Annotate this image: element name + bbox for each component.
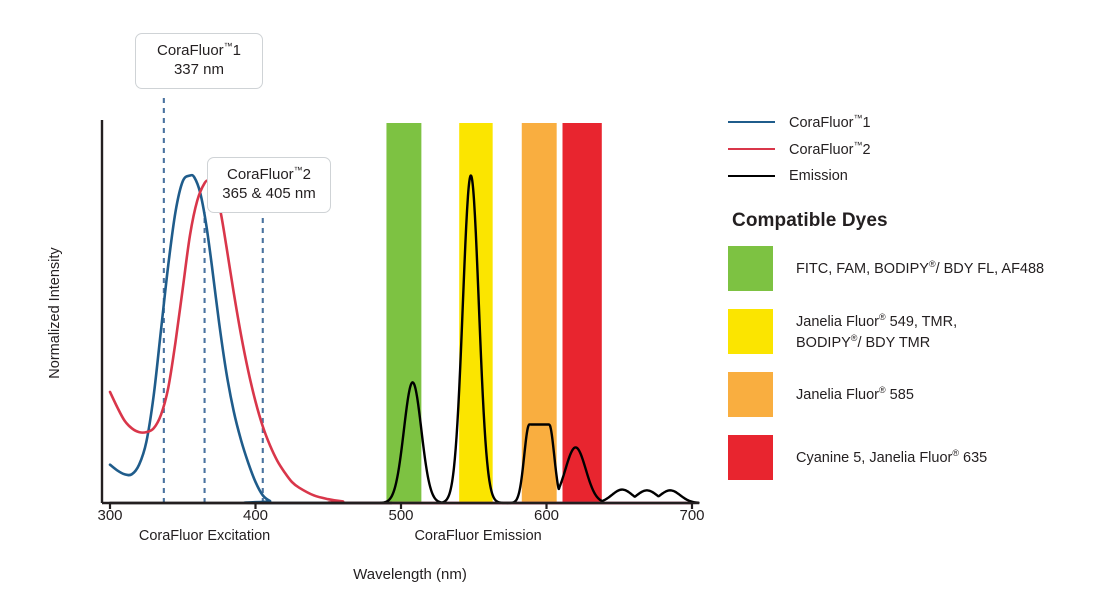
legend-label-suffix: 2 xyxy=(862,141,870,157)
dye-row[interactable]: Cyanine 5, Janelia Fluor® 635 xyxy=(728,435,1100,480)
dye-text-tail: / BDY TMR xyxy=(857,334,930,350)
x-tick-300: 300 xyxy=(80,507,140,524)
dye-color-swatch xyxy=(728,372,773,417)
yellow-band xyxy=(459,123,492,503)
x-tick-400: 400 xyxy=(226,507,286,524)
legend-item[interactable]: CoraFluor™2 xyxy=(728,135,1100,162)
section-label-excitation: CoraFluor Excitation xyxy=(95,528,315,544)
x-tick-500: 500 xyxy=(371,507,431,524)
compatible-dyes-list: FITC, FAM, BODIPY®/ BDY FL, AF488Janelia… xyxy=(728,246,1100,480)
dye-label-line-1: Janelia Fluor® 585 xyxy=(796,384,914,405)
callout-2-value: 365 & 405 nm xyxy=(220,185,318,204)
green-band xyxy=(386,123,421,503)
callout-2-title: CoraFluor™2 xyxy=(220,165,318,185)
legend-panel: CoraFluor™1CoraFluor™2Emission Compatibl… xyxy=(728,108,1100,498)
dye-text: BODIPY xyxy=(796,334,851,350)
dye-text: Cyanine 5, Janelia Fluor xyxy=(796,450,952,466)
dye-text-tail: 549, TMR, xyxy=(886,314,957,330)
legend-line-swatch xyxy=(728,121,775,123)
dye-row[interactable]: Janelia Fluor® 549, TMR,BODIPY®/ BDY TMR xyxy=(728,309,1100,354)
legend-item-label: CoraFluor™1 xyxy=(789,113,871,131)
dye-label-line-2: BODIPY®/ BDY TMR xyxy=(796,332,957,353)
dye-text-tail: 585 xyxy=(886,387,914,403)
dye-label: Cyanine 5, Janelia Fluor® 635 xyxy=(796,447,987,468)
legend-item-label: CoraFluor™2 xyxy=(789,140,871,158)
legend-label-text: CoraFluor xyxy=(789,114,853,130)
chart-figure: CoraFluor™1 337 nm CoraFluor™2 365 & 405… xyxy=(0,0,1110,612)
dye-label-line-1: FITC, FAM, BODIPY®/ BDY FL, AF488 xyxy=(796,258,1044,279)
callout-1-title: CoraFluor™1 xyxy=(148,41,250,61)
x-tick-600: 600 xyxy=(517,507,577,524)
dye-color-swatch xyxy=(728,435,773,480)
dye-label: Janelia Fluor® 549, TMR,BODIPY®/ BDY TMR xyxy=(796,311,957,353)
dye-color-swatch xyxy=(728,309,773,354)
red-band xyxy=(563,123,602,503)
x-tick-700: 700 xyxy=(662,507,722,524)
callout-1-value: 337 nm xyxy=(148,61,250,80)
dye-label: Janelia Fluor® 585 xyxy=(796,384,914,405)
x-axis-title: Wavelength (nm) xyxy=(260,566,560,583)
legend-label-text: Emission xyxy=(789,168,848,184)
legend-label-suffix: 1 xyxy=(862,114,870,130)
callout-corafluor-1: CoraFluor™1 337 nm xyxy=(135,33,263,89)
dye-text: FITC, FAM, BODIPY xyxy=(796,261,929,277)
dye-label: FITC, FAM, BODIPY®/ BDY FL, AF488 xyxy=(796,258,1044,279)
compatible-dyes-heading: Compatible Dyes xyxy=(732,210,1100,232)
dye-color-swatch xyxy=(728,246,773,291)
dye-text-tail: / BDY FL, AF488 xyxy=(936,261,1045,277)
legend-label-text: CoraFluor xyxy=(789,141,853,157)
legend-line-swatch xyxy=(728,175,775,177)
dye-text-tail: 635 xyxy=(959,450,987,466)
section-label-emission: CoraFluor Emission xyxy=(368,528,588,544)
y-axis-title: Normalized Intensity xyxy=(47,233,63,393)
series-legend: CoraFluor™1CoraFluor™2Emission xyxy=(728,108,1100,189)
dye-text: Janelia Fluor xyxy=(796,314,879,330)
dye-row[interactable]: FITC, FAM, BODIPY®/ BDY FL, AF488 xyxy=(728,246,1100,291)
registered-mark: ® xyxy=(879,385,886,395)
dye-label-line-1: Cyanine 5, Janelia Fluor® 635 xyxy=(796,447,987,468)
orange-band xyxy=(522,123,557,503)
registered-mark: ® xyxy=(929,259,936,269)
legend-line-swatch xyxy=(728,148,775,150)
dye-row[interactable]: Janelia Fluor® 585 xyxy=(728,372,1100,417)
registered-mark: ® xyxy=(879,312,886,322)
legend-item[interactable]: Emission xyxy=(728,162,1100,189)
dye-label-line-1: Janelia Fluor® 549, TMR, xyxy=(796,311,957,332)
dye-text: Janelia Fluor xyxy=(796,387,879,403)
legend-item-label: Emission xyxy=(789,168,848,184)
callout-corafluor-2: CoraFluor™2 365 & 405 nm xyxy=(207,157,331,213)
legend-item[interactable]: CoraFluor™1 xyxy=(728,108,1100,135)
